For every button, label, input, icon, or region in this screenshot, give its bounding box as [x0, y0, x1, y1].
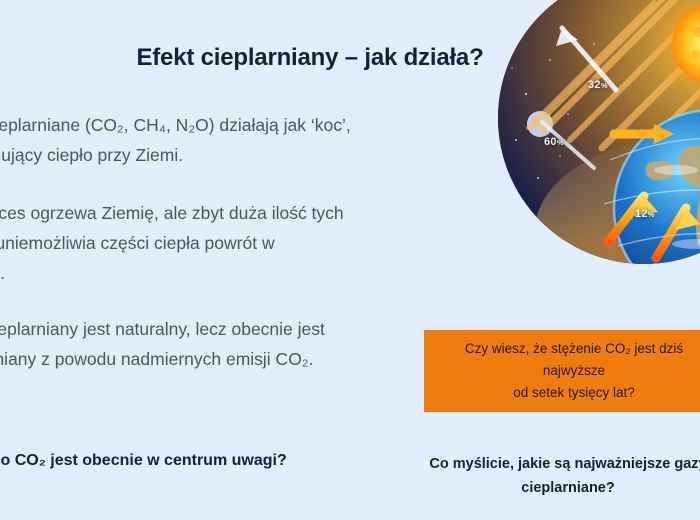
- discussion-question-left: Dlaczego CO₂ jest obecnie w centrum uwag…: [0, 452, 420, 470]
- body-text-column: Gazy cieplarniane (CO₂, CH₄, N₂O) działa…: [0, 110, 400, 402]
- body-paragraph-1: Gazy cieplarniane (CO₂, CH₄, N₂O) działa…: [0, 110, 400, 170]
- did-you-know-callout: Czy wiesz, że stężenie CO₂ jest dziś naj…: [424, 330, 700, 412]
- body-paragraph-2: Ten proces ogrzewa Ziemię, ale zbyt duża…: [0, 198, 400, 288]
- did-you-know-text: Czy wiesz, że stężenie CO₂ jest dziś naj…: [434, 338, 700, 404]
- greenhouse-effect-illustration: 32% 60% 12%: [498, 0, 700, 264]
- illustration-label-reflected: 32%: [588, 79, 608, 91]
- slide-canvas: 32% 60% 12% Efekt cieplarniany – jak dzi…: [0, 0, 700, 520]
- discussion-question-right: Co myślicie, jakie są najważniejsze gazy…: [398, 452, 700, 500]
- illustration-label-absorbed: 60%: [544, 136, 564, 148]
- body-paragraph-3: Efekt cieplarniany jest naturalny, lecz …: [0, 314, 400, 374]
- illustration-label-escaping: 12%: [635, 208, 655, 220]
- slide-title: Efekt cieplarniany – jak działa?: [0, 44, 660, 72]
